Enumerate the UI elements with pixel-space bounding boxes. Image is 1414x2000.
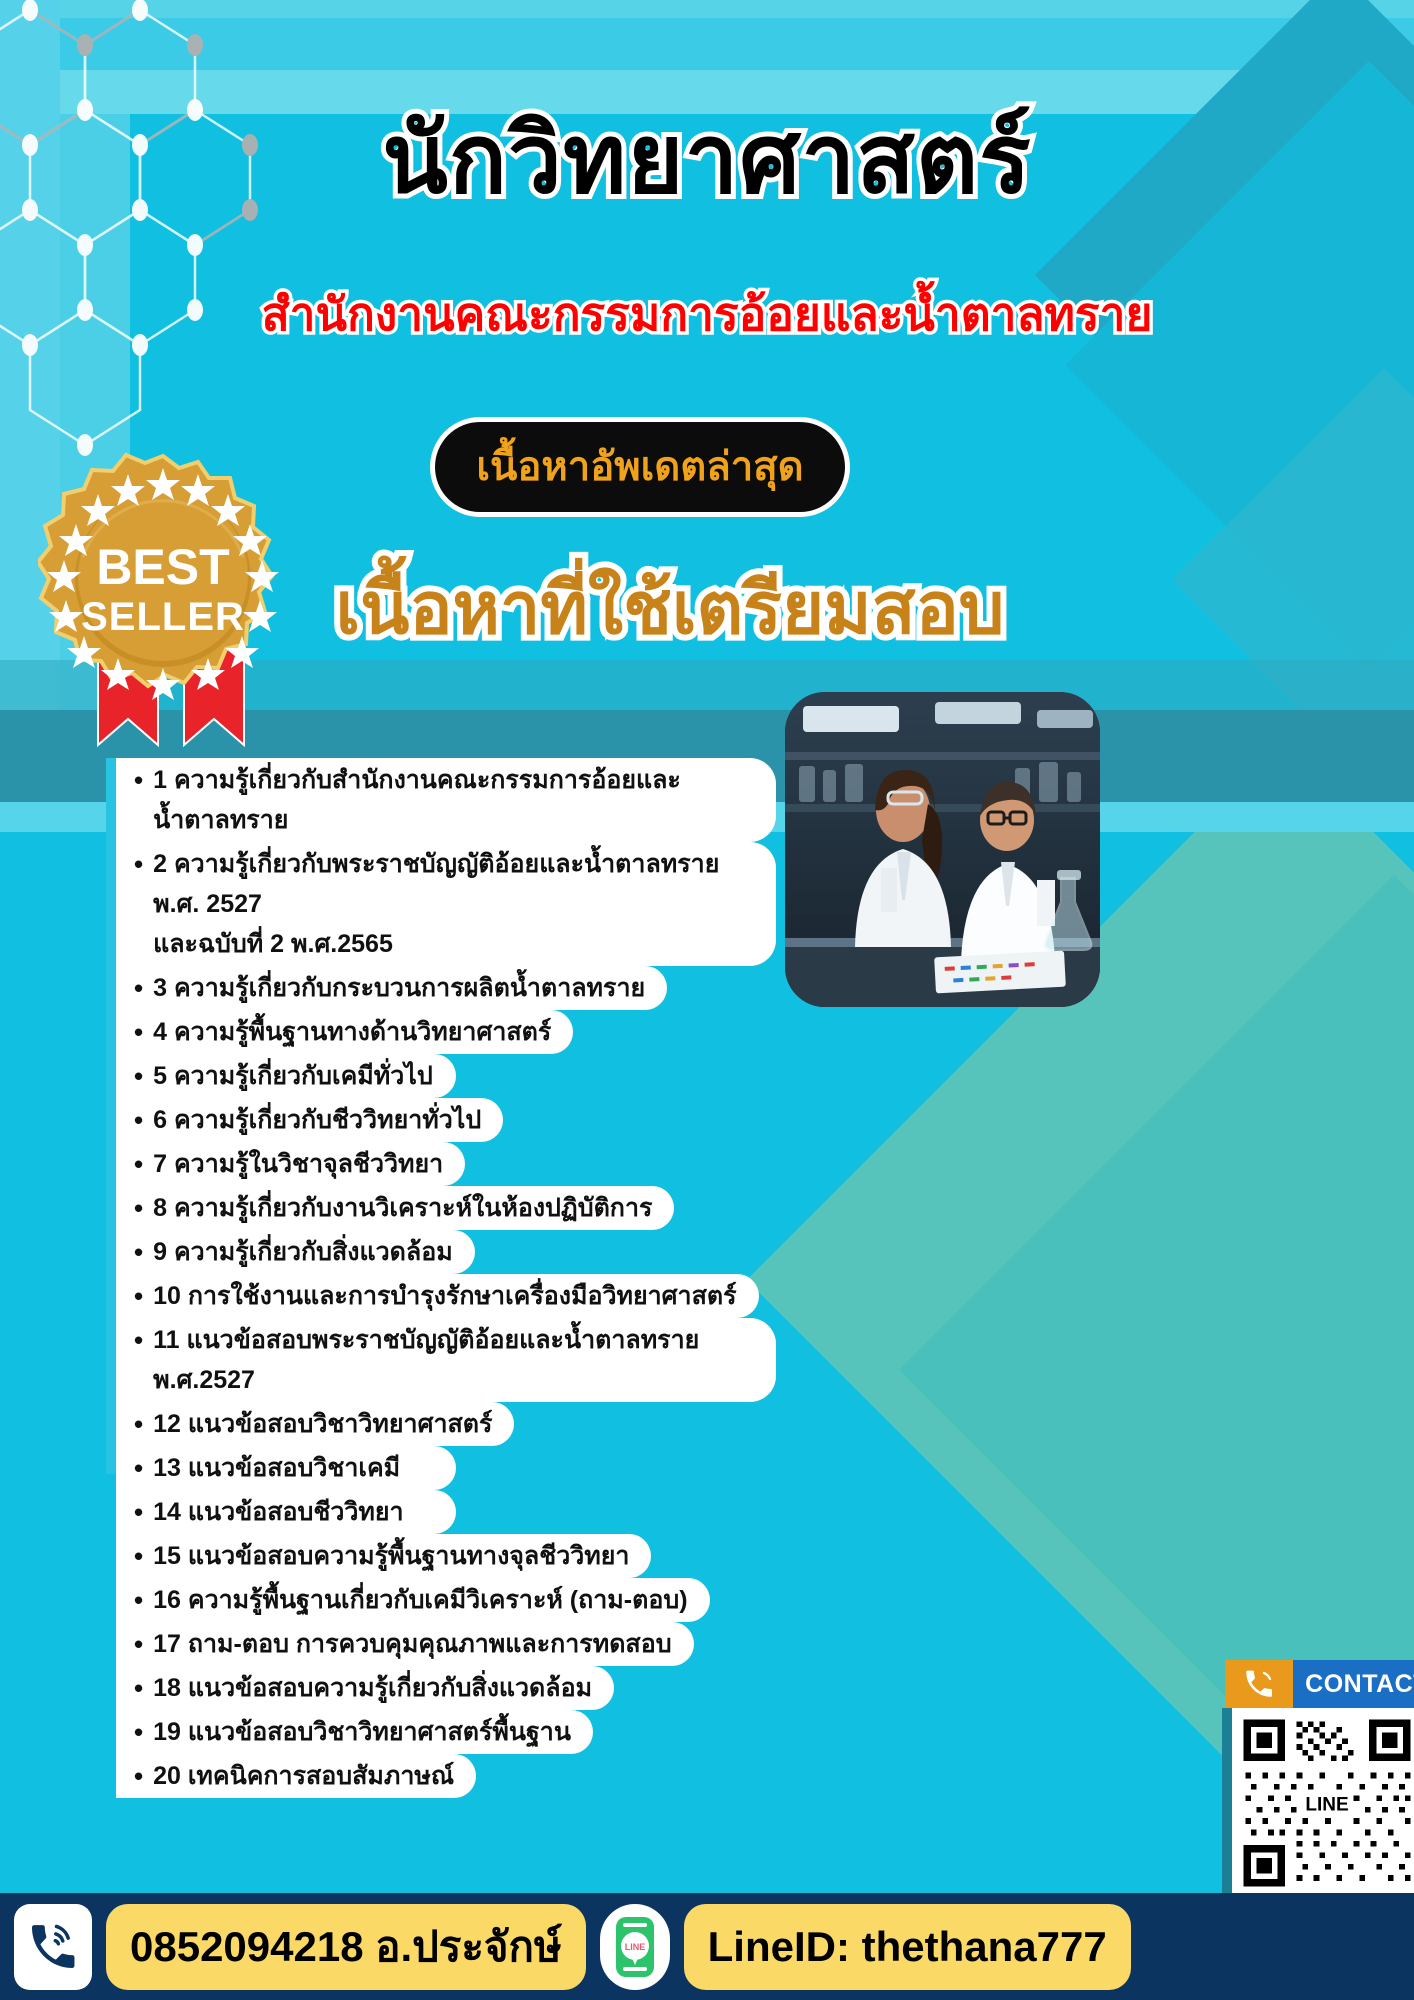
bullet-icon: • xyxy=(134,1056,143,1096)
bullet-icon: • xyxy=(134,1624,143,1664)
list-item-label: 15 แนวข้อสอบความรู้พื้นฐานทางจุลชีววิทยา xyxy=(153,1536,629,1576)
list-item-label: 1 ความรู้เกี่ยวกับสำนักงานคณะกรรมการอ้อย… xyxy=(153,760,754,840)
bullet-icon: • xyxy=(134,1536,143,1576)
list-item: •8 ความรู้เกี่ยวกับงานวิเคราะห์ในห้องปฏิ… xyxy=(116,1186,674,1230)
list-item-label: 20 เทคนิคการสอบสัมภาษณ์ xyxy=(153,1756,454,1796)
bullet-icon: • xyxy=(134,1100,143,1140)
list-item: •18 แนวข้อสอบความรู้เกี่ยวกับสิ่งแวดล้อม xyxy=(116,1666,614,1710)
qr-line-label: LINE xyxy=(1305,1795,1348,1816)
line-id-pill[interactable]: LineID: thethana777 xyxy=(684,1904,1131,1990)
list-item-label: 9 ความรู้เกี่ยวกับสิ่งแวดล้อม xyxy=(153,1232,453,1272)
bullet-icon: • xyxy=(134,760,143,800)
poster-canvas: นักวิทยาศาสตร์ สำนักงานคณะกรรมการอ้อยและ… xyxy=(0,0,1414,2000)
list-item-label: 4 ความรู้พื้นฐานทางด้านวิทยาศาสตร์ xyxy=(153,1012,551,1052)
update-badge: เนื้อหาอัพเดตล่าสุด xyxy=(430,417,850,517)
bullet-icon: • xyxy=(134,1404,143,1444)
list-item-label: 5 ความรู้เกี่ยวกับเคมีทั่วไป xyxy=(153,1056,433,1096)
list-item-label: 11 แนวข้อสอบพระราชบัญญัติอ้อยและน้ำตาลทร… xyxy=(153,1320,754,1400)
list-item: •16 ความรู้พื้นฐานเกี่ยวกับเคมีวิเคราะห์… xyxy=(116,1578,710,1622)
list-item: •11 แนวข้อสอบพระราชบัญญัติอ้อยและน้ำตาลท… xyxy=(116,1318,776,1402)
line-icon-label: LINE xyxy=(624,1942,645,1952)
list-item: •5 ความรู้เกี่ยวกับเคมีทั่วไป xyxy=(116,1054,456,1098)
bullet-icon: • xyxy=(134,844,143,884)
list-item-label: 8 ความรู้เกี่ยวกับงานวิเคราะห์ในห้องปฏิบ… xyxy=(153,1188,652,1228)
bullet-icon: • xyxy=(134,968,143,1008)
list-item: •14 แนวข้อสอบชีววิทยา xyxy=(116,1490,456,1534)
list-item-label: 10 การใช้งานและการบำรุงรักษาเครื่องมือวิ… xyxy=(153,1276,736,1316)
list-item-label: 12 แนวข้อสอบวิชาวิทยาศาสตร์ xyxy=(153,1404,492,1444)
list-item-label: 13 แนวข้อสอบวิชาเคมี xyxy=(153,1448,400,1488)
list-item-label: 3 ความรู้เกี่ยวกับกระบวนการผลิตน้ำตาลทรา… xyxy=(153,968,645,1008)
lab-photo xyxy=(785,692,1100,1007)
bullet-icon: • xyxy=(134,1492,143,1532)
list-item: •13 แนวข้อสอบวิชาเคมี xyxy=(116,1446,456,1490)
list-item-label: 16 ความรู้พื้นฐานเกี่ยวกับเคมีวิเคราะห์ … xyxy=(153,1580,687,1620)
contact-us-label: CONTACT U xyxy=(1305,1670,1414,1699)
bullet-icon: • xyxy=(134,1188,143,1228)
list-item-label: 17 ถาม-ตอบ การควบคุมคุณภาพและการทดสอบ xyxy=(153,1624,671,1664)
line-id-label: LineID: thethana777 xyxy=(708,1926,1107,1968)
bullet-icon: • xyxy=(134,1448,143,1488)
best-seller-badge: BEST SELLER xyxy=(38,452,288,752)
page-title: นักวิทยาศาสตร์ xyxy=(0,110,1414,211)
section-heading: เนื้อหาที่ใช้เตรียมสอบ xyxy=(240,572,1100,648)
bullet-icon: • xyxy=(134,1276,143,1316)
list-item-label: 7 ความรู้ในวิชาจุลชีววิทยา xyxy=(153,1144,443,1184)
list-item: •17 ถาม-ตอบ การควบคุมคุณภาพและการทดสอบ xyxy=(116,1622,694,1666)
bullet-icon: • xyxy=(134,1232,143,1272)
list-item: •1 ความรู้เกี่ยวกับสำนักงานคณะกรรมการอ้อ… xyxy=(116,758,776,842)
list-item: •10 การใช้งานและการบำรุงรักษาเครื่องมือว… xyxy=(116,1274,759,1318)
bullet-icon: • xyxy=(134,1144,143,1184)
molecule-pattern-icon xyxy=(0,0,320,470)
footer-bar: 0852094218 อ.ประจักษ์ LINE LineID: theth… xyxy=(0,1893,1414,2000)
phone-ringing-icon xyxy=(14,1904,92,1990)
best-seller-seal-icon: BEST SELLER xyxy=(38,452,288,702)
best-seller-line1: BEST xyxy=(96,539,229,595)
bullet-icon: • xyxy=(134,1712,143,1752)
list-item: •12 แนวข้อสอบวิชาวิทยาศาสตร์ xyxy=(116,1402,514,1446)
list-item-label: 14 แนวข้อสอบชีววิทยา xyxy=(153,1492,403,1532)
list-item: •19 แนวข้อสอบวิชาวิทยาศาสตร์พื้นฐาน xyxy=(116,1710,593,1754)
bullet-icon: • xyxy=(134,1756,143,1796)
list-item: •7 ความรู้ในวิชาจุลชีววิทยา xyxy=(116,1142,465,1186)
phone-number-pill[interactable]: 0852094218 อ.ประจักษ์ xyxy=(106,1904,586,1990)
bullet-icon: • xyxy=(134,1320,143,1360)
line-app-icon: LINE xyxy=(600,1904,670,1990)
contact-us-widget[interactable]: CONTACT U xyxy=(1225,1660,1414,1708)
bullet-icon: • xyxy=(134,1580,143,1620)
list-item: •6 ความรู้เกี่ยวกับชีววิทยาทั่วไป xyxy=(116,1098,503,1142)
organization-subtitle: สำนักงานคณะกรรมการอ้อยและน้ำตาลทราย xyxy=(0,288,1414,341)
list-item: •20 เทคนิคการสอบสัมภาษณ์ xyxy=(116,1754,476,1798)
bullet-icon: • xyxy=(134,1012,143,1052)
list-item: •9 ความรู้เกี่ยวกับสิ่งแวดล้อม xyxy=(116,1230,475,1274)
list-item-label: 19 แนวข้อสอบวิชาวิทยาศาสตร์พื้นฐาน xyxy=(153,1712,571,1752)
list-item: •15 แนวข้อสอบความรู้พื้นฐานทางจุลชีววิทย… xyxy=(116,1534,651,1578)
bullet-icon: • xyxy=(134,1668,143,1708)
qr-code[interactable]: LINE xyxy=(1232,1708,1414,1898)
list-item: •2 ความรู้เกี่ยวกับพระราชบัญญัติอ้อยและน… xyxy=(116,842,776,966)
topics-list: •1 ความรู้เกี่ยวกับสำนักงานคณะกรรมการอ้อ… xyxy=(116,758,776,1798)
list-item: •3 ความรู้เกี่ยวกับกระบวนการผลิตน้ำตาลทร… xyxy=(116,966,667,1010)
best-seller-line2: SELLER xyxy=(81,595,245,639)
list-item-label: 6 ความรู้เกี่ยวกับชีววิทยาทั่วไป xyxy=(153,1100,481,1140)
update-badge-label: เนื้อหาอัพเดตล่าสุด xyxy=(476,447,803,487)
phone-icon xyxy=(1225,1660,1293,1708)
list-item: •4 ความรู้พื้นฐานทางด้านวิทยาศาสตร์ xyxy=(116,1010,573,1054)
list-item-label: 18 แนวข้อสอบความรู้เกี่ยวกับสิ่งแวดล้อม xyxy=(153,1668,592,1708)
phone-number-label: 0852094218 อ.ประจักษ์ xyxy=(130,1926,562,1968)
list-item-label: 2 ความรู้เกี่ยวกับพระราชบัญญัติอ้อยและน้… xyxy=(153,844,754,964)
contact-us-bar: CONTACT U xyxy=(1225,1660,1414,1708)
